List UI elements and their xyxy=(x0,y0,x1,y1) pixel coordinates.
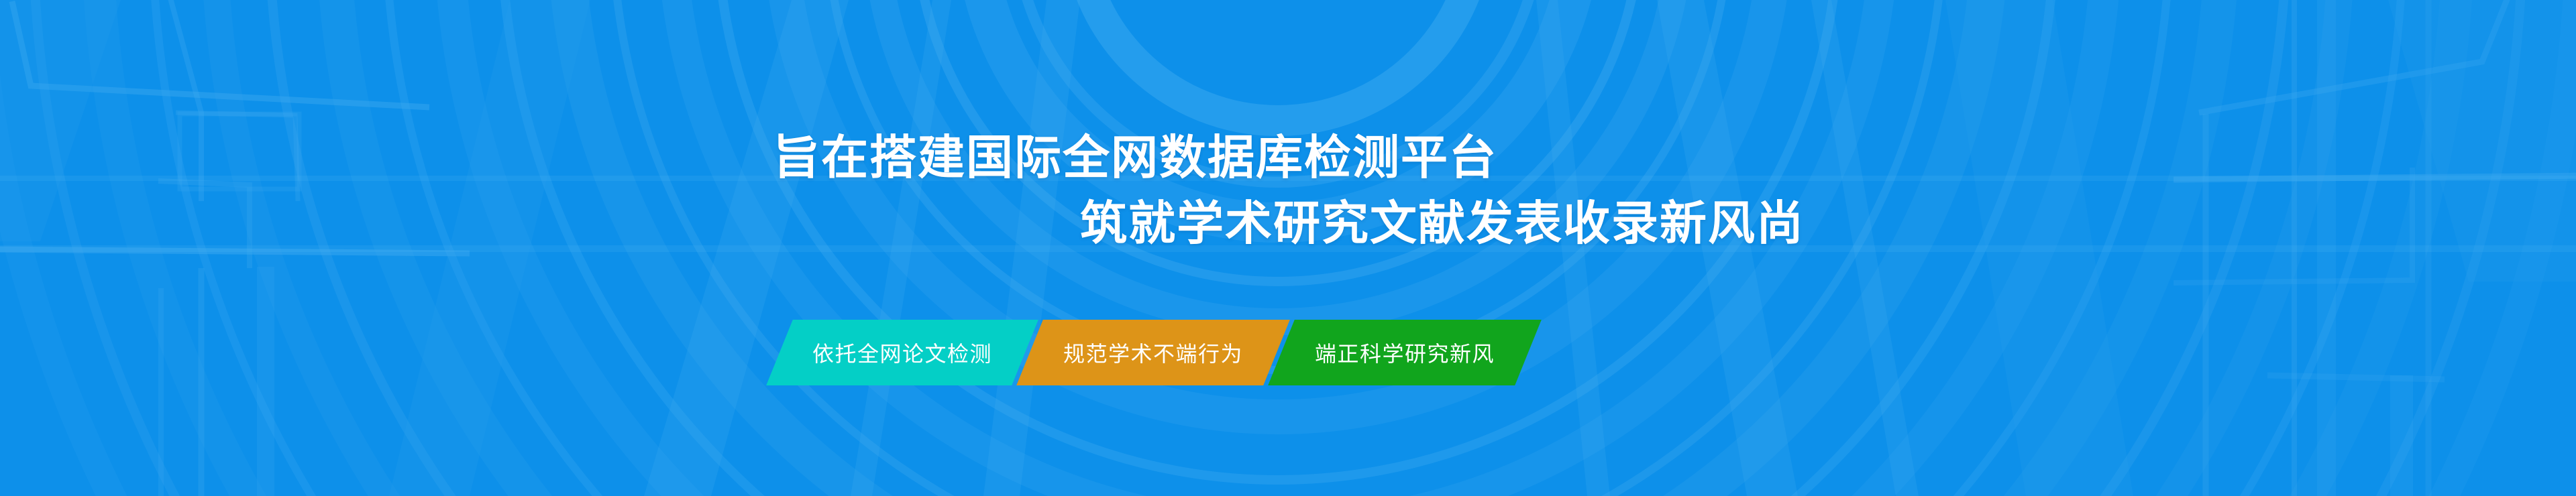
headline-line-1: 旨在搭建国际全网数据库检测平台 xyxy=(773,131,2576,184)
feature-tag-3[interactable]: 端正科学研究新风 xyxy=(1268,320,1542,385)
feature-tag-2[interactable]: 规范学术不端行为 xyxy=(1016,320,1290,385)
headline-line-2: 筑就学术研究文献发表收录新风尚 xyxy=(1080,197,2576,249)
feature-tag-3-label: 端正科学研究新风 xyxy=(1315,337,1495,368)
feature-tag-2-label: 规范学术不端行为 xyxy=(1063,337,1243,368)
hero-banner: 旨在搭建国际全网数据库检测平台 筑就学术研究文献发表收录新风尚 依托全网论文检测… xyxy=(0,0,2576,496)
feature-tag-bar: 依托全网论文检测 规范学术不端行为 端正科学研究新风 xyxy=(780,320,1528,385)
feature-tag-1-label: 依托全网论文检测 xyxy=(812,337,992,368)
headline-block: 旨在搭建国际全网数据库检测平台 筑就学术研究文献发表收录新风尚 xyxy=(0,131,2576,250)
feature-tag-1[interactable]: 依托全网论文检测 xyxy=(766,320,1038,385)
